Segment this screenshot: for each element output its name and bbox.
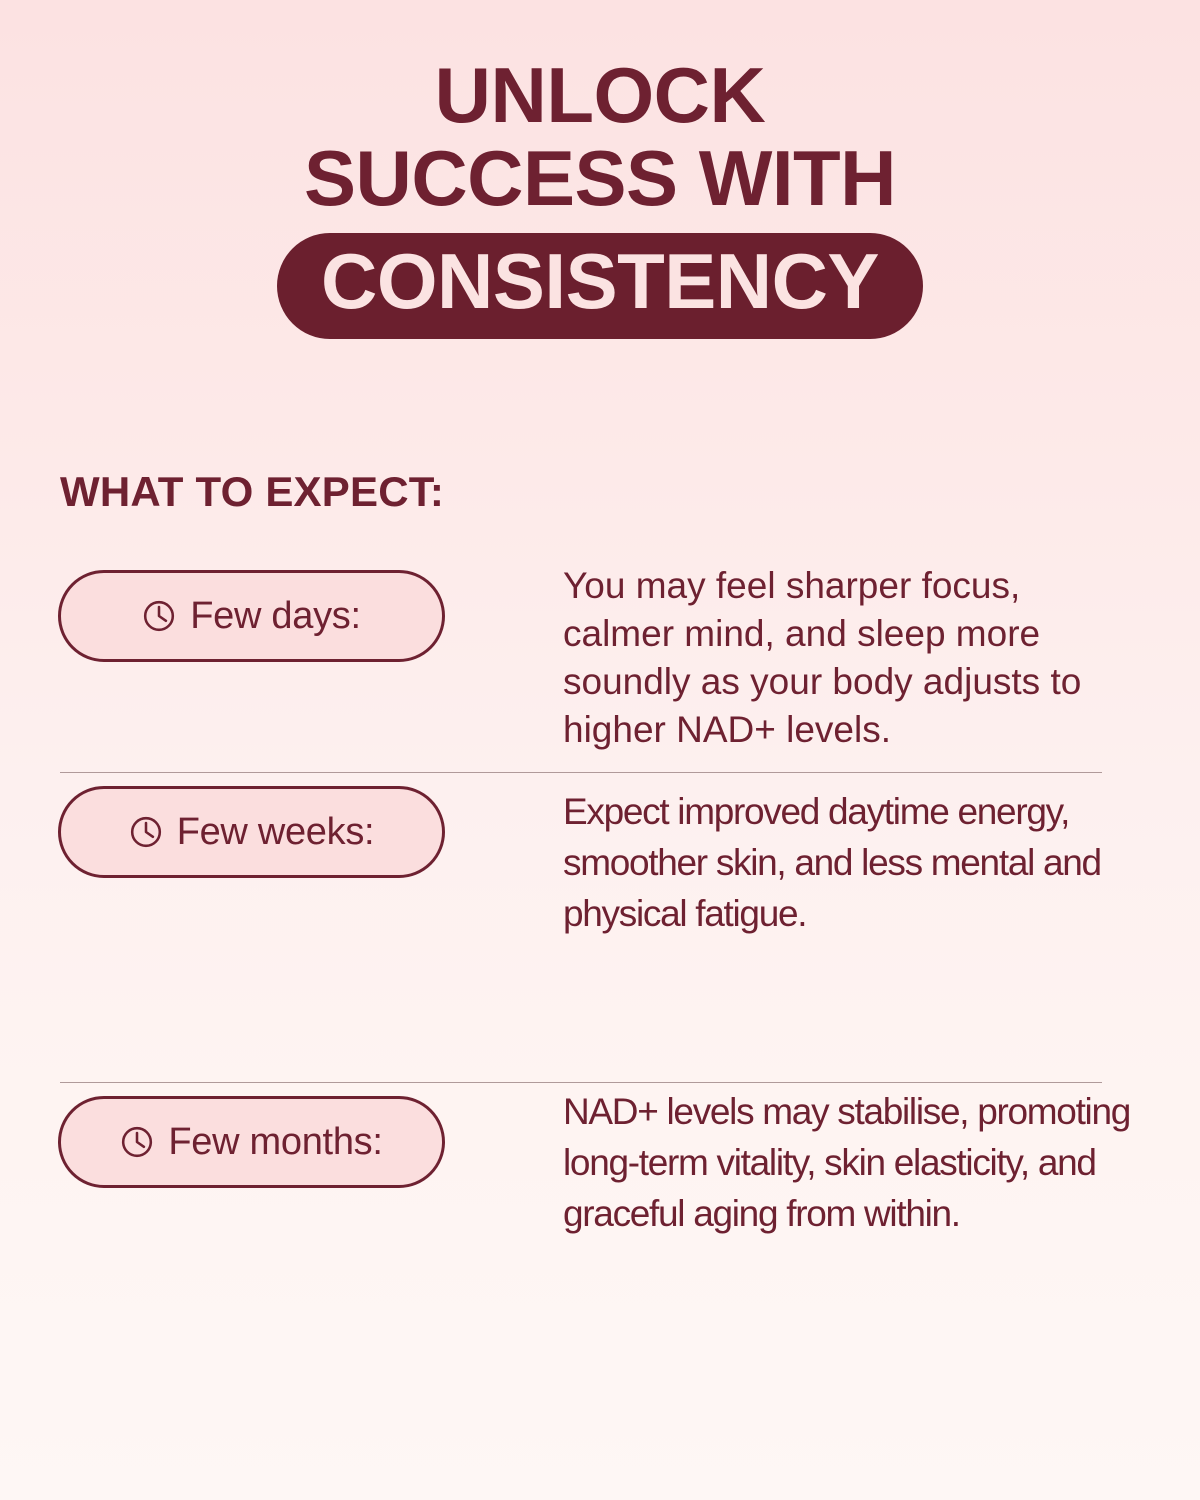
headline-block: UNLOCK SUCCESS WITH CONSISTENCY [0, 0, 1200, 339]
divider [60, 1082, 1102, 1083]
expectation-list: Few days: You may feel sharper focus, ca… [0, 556, 1200, 1382]
timeframe-label: Few weeks: [177, 811, 375, 854]
clock-icon [142, 599, 176, 633]
timeframe-pill-few-days: Few days: [58, 570, 445, 662]
timeframe-pill-few-weeks: Few weeks: [58, 786, 445, 878]
row-body: NAD+ levels may stabilise, promoting lon… [445, 1082, 1140, 1239]
row-description: NAD+ levels may stabilise, promoting lon… [563, 1086, 1140, 1239]
list-item: Few days: You may feel sharper focus, ca… [0, 556, 1200, 772]
row-body: You may feel sharper focus, calmer mind,… [445, 556, 1140, 754]
headline-line-2: SUCCESS WITH [0, 137, 1200, 220]
row-description: Expect improved daytime energy, smoother… [563, 786, 1140, 939]
timeframe-pill-few-months: Few months: [58, 1096, 445, 1188]
section-title: WHAT TO EXPECT: [60, 468, 444, 516]
headline-badge-wrap: CONSISTENCY [0, 233, 1200, 339]
headline-line-1: UNLOCK [0, 54, 1200, 137]
list-item: Few weeks: Expect improved daytime energ… [0, 772, 1200, 1082]
row-body: Expect improved daytime energy, smoother… [445, 772, 1140, 939]
timeframe-label: Few months: [168, 1121, 382, 1164]
timeframe-label: Few days: [190, 595, 360, 638]
row-description: You may feel sharper focus, calmer mind,… [563, 562, 1140, 754]
poster-canvas: UNLOCK SUCCESS WITH CONSISTENCY WHAT TO … [0, 0, 1200, 1500]
clock-icon [120, 1125, 154, 1159]
list-item: Few months: NAD+ levels may stabilise, p… [0, 1082, 1200, 1382]
headline-badge: CONSISTENCY [277, 233, 923, 339]
divider [60, 772, 1102, 773]
clock-icon [129, 815, 163, 849]
